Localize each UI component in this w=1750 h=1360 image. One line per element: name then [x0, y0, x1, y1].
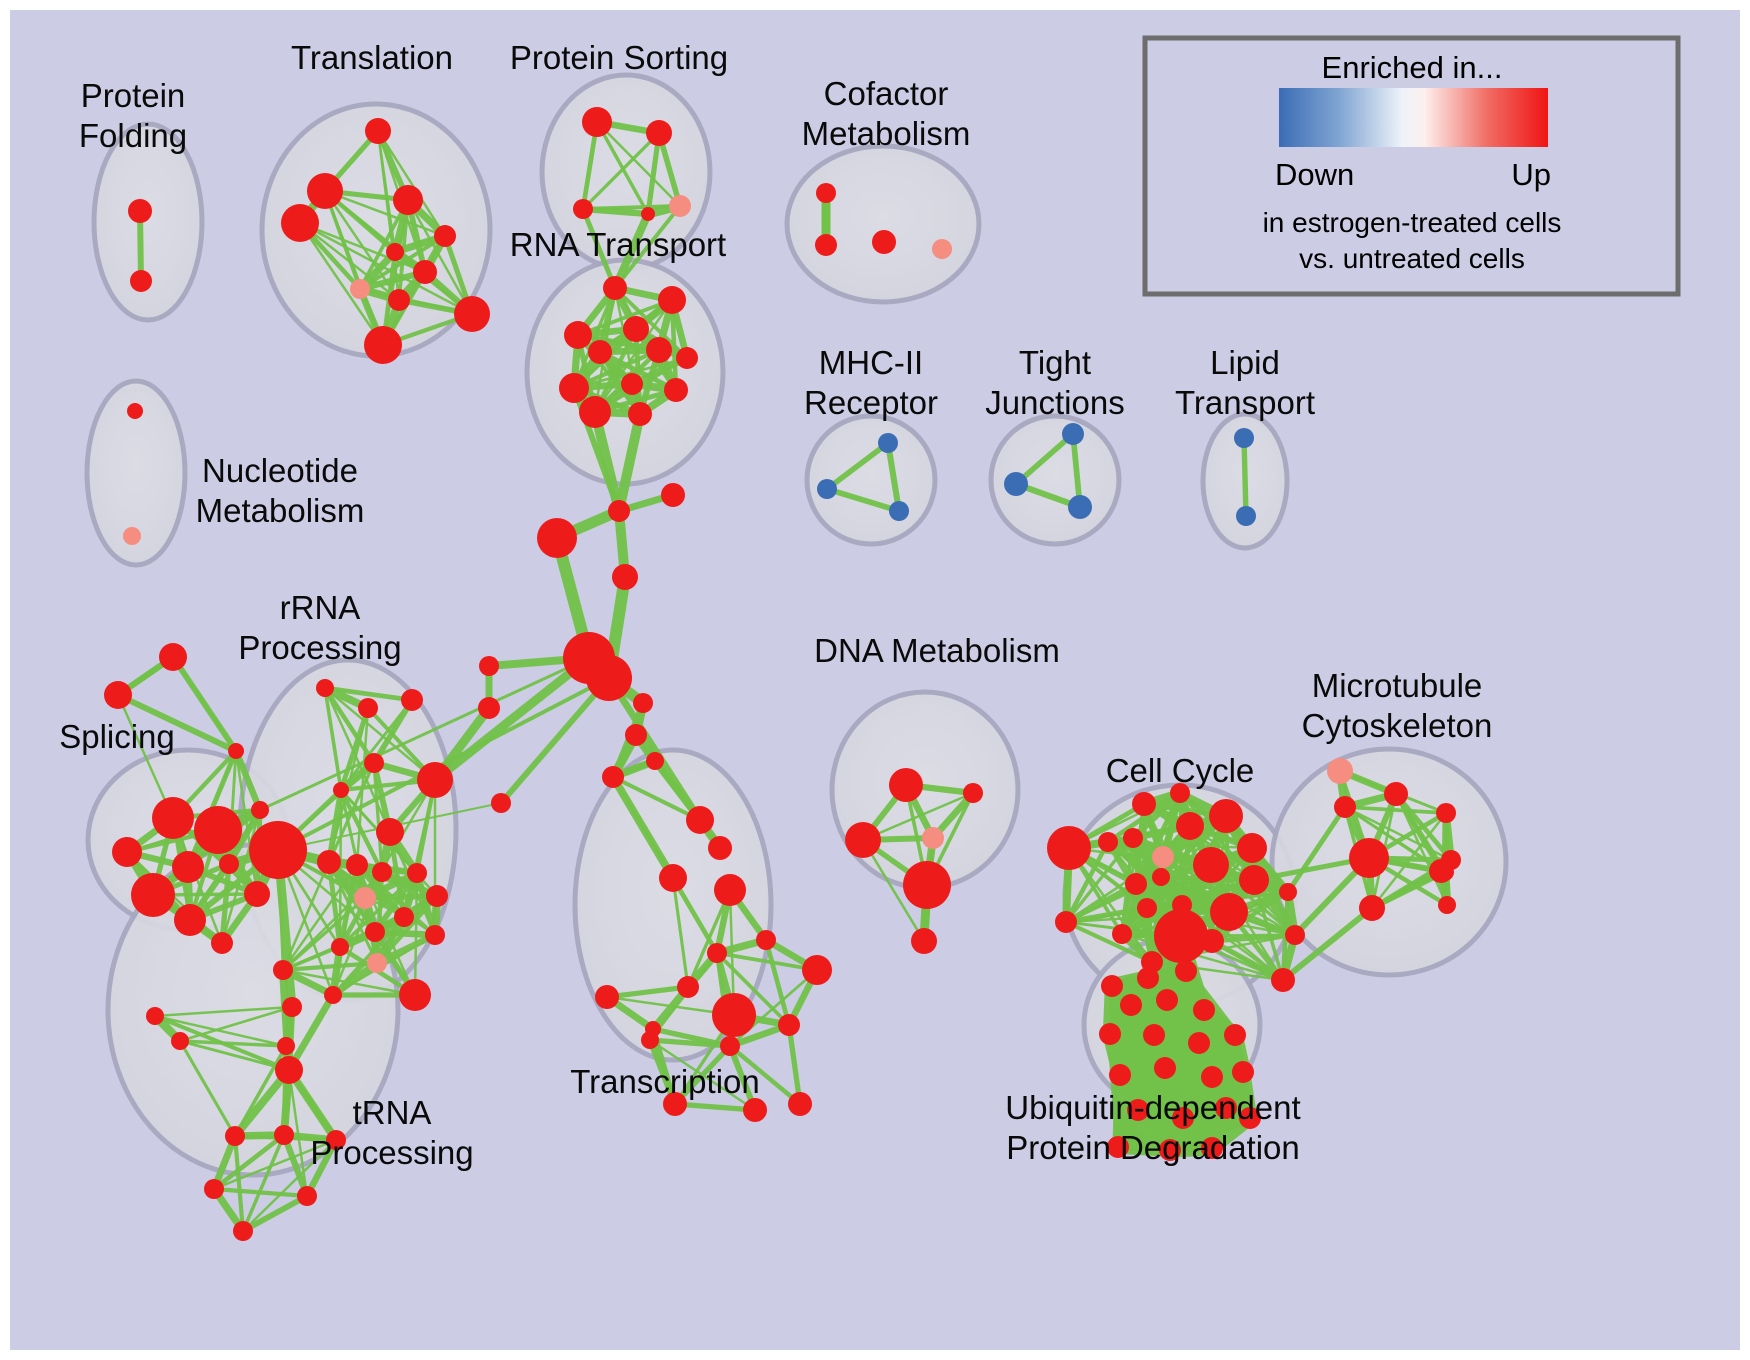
network-node: [676, 347, 698, 369]
network-node: [152, 797, 194, 839]
network-node: [1123, 828, 1143, 848]
network-node: [1125, 873, 1147, 895]
network-node: [123, 527, 141, 545]
network-node: [645, 1021, 661, 1037]
network-node: [491, 793, 511, 813]
network-node: [159, 643, 187, 671]
network-node: [1004, 472, 1028, 496]
cluster-label-dna-metabolism: DNA Metabolism: [814, 632, 1060, 669]
network-node: [317, 850, 341, 874]
network-node: [603, 276, 627, 300]
network-node: [756, 930, 776, 950]
network-node: [559, 373, 589, 403]
network-node: [1327, 758, 1353, 784]
network-node: [1137, 967, 1159, 989]
network-node: [401, 689, 423, 711]
network-canvas: ProteinFoldingTranslationProtein Sorting…: [0, 0, 1750, 1360]
network-node: [1200, 929, 1224, 953]
network-node: [1112, 924, 1132, 944]
network-node: [281, 204, 319, 242]
legend-up-label: Up: [1511, 157, 1551, 192]
cluster-label-transcription: Transcription: [570, 1063, 760, 1100]
network-node: [707, 943, 727, 963]
network-node: [393, 185, 423, 215]
network-node: [365, 118, 391, 144]
network-node: [225, 1126, 245, 1146]
network-node: [1359, 895, 1385, 921]
network-node: [1234, 428, 1254, 448]
network-node: [1154, 909, 1208, 963]
network-node: [1193, 847, 1229, 883]
network-node: [661, 483, 685, 507]
network-node: [478, 697, 500, 719]
network-node: [1156, 989, 1178, 1011]
network-node: [1201, 1066, 1223, 1088]
network-node: [720, 1036, 740, 1056]
network-node: [686, 806, 714, 834]
network-node: [1137, 898, 1157, 918]
network-node: [324, 986, 342, 1004]
network-node: [714, 874, 746, 906]
network-node: [386, 243, 404, 261]
network-node: [364, 753, 384, 773]
network-node: [708, 836, 732, 860]
network-node: [1176, 812, 1204, 840]
network-node: [399, 979, 431, 1011]
network-node: [394, 907, 414, 927]
legend-subtitle-line1: in estrogen-treated cells: [1263, 207, 1562, 238]
network-node: [646, 120, 672, 146]
network-node: [1224, 1024, 1246, 1046]
network-node: [1334, 796, 1356, 818]
network-node: [211, 932, 233, 954]
cluster-label-rna-transport: RNA Transport: [510, 226, 726, 263]
network-node: [586, 655, 632, 701]
cluster-label-translation: Translation: [291, 39, 453, 76]
legend-down-label: Down: [1275, 157, 1354, 192]
network-node: [104, 681, 132, 709]
network-node: [1429, 859, 1453, 883]
network-node: [244, 881, 270, 907]
network-node: [388, 289, 410, 311]
network-node: [564, 321, 592, 349]
network-node: [316, 679, 334, 697]
network-node: [1154, 1057, 1176, 1079]
network-node: [1099, 1023, 1121, 1045]
network-node: [582, 107, 612, 137]
network-node: [778, 1014, 800, 1036]
network-node: [426, 885, 448, 907]
network-node: [1239, 865, 1269, 895]
network-node: [282, 997, 302, 1017]
network-node: [346, 854, 368, 876]
network-node: [903, 861, 951, 909]
network-node: [1152, 868, 1170, 886]
network-node: [646, 337, 672, 363]
network-node: [174, 904, 206, 936]
cluster-label-splicing: Splicing: [59, 718, 175, 755]
network-node: [963, 783, 983, 803]
network-node: [413, 260, 437, 284]
network-node: [171, 1032, 189, 1050]
network-node: [1120, 994, 1142, 1016]
network-edge: [1244, 438, 1246, 516]
network-node: [1152, 846, 1174, 868]
network-node: [817, 479, 837, 499]
network-node: [932, 239, 952, 259]
network-node: [911, 928, 937, 954]
network-node: [364, 326, 402, 364]
network-node: [588, 340, 612, 364]
network-node: [233, 1221, 253, 1241]
cluster-label-cell-cycle: Cell Cycle: [1106, 752, 1255, 789]
network-node: [612, 564, 638, 590]
network-node: [788, 1092, 812, 1116]
network-node: [658, 286, 686, 314]
network-node: [307, 173, 343, 209]
network-node: [889, 768, 923, 802]
network-node: [273, 960, 293, 980]
network-node: [816, 183, 836, 203]
network-node: [127, 403, 143, 419]
network-node: [1237, 833, 1267, 863]
network-node: [621, 373, 643, 395]
network-node: [664, 378, 688, 402]
network-node: [845, 822, 881, 858]
network-node: [1143, 1024, 1165, 1046]
network-node: [249, 821, 307, 879]
network-node: [367, 953, 387, 973]
network-node: [1438, 896, 1456, 914]
network-node: [1055, 911, 1077, 933]
network-node: [646, 752, 664, 770]
network-node: [228, 743, 244, 759]
network-node: [479, 656, 499, 676]
network-node: [889, 501, 909, 521]
network-node: [712, 993, 756, 1037]
network-node: [131, 873, 175, 917]
network-node: [130, 270, 152, 292]
network-node: [434, 225, 456, 247]
network-node: [1209, 799, 1243, 833]
network-node: [608, 500, 630, 522]
network-node: [573, 199, 593, 219]
cluster-hull-cofactor-metabolism: [787, 146, 979, 302]
network-node: [274, 1125, 294, 1145]
network-node: [659, 864, 687, 892]
network-node: [633, 693, 653, 713]
network-node: [628, 402, 652, 426]
network-node: [878, 433, 898, 453]
network-node: [623, 316, 649, 342]
network-node: [1101, 975, 1123, 997]
network-node: [669, 195, 691, 217]
network-node: [454, 296, 490, 332]
network-node: [1098, 832, 1118, 852]
network-node: [112, 837, 142, 867]
network-node: [1285, 925, 1305, 945]
network-node: [331, 938, 349, 956]
network-node: [1271, 968, 1295, 992]
network-node: [1132, 792, 1156, 816]
network-node: [815, 234, 837, 256]
network-node: [1436, 803, 1456, 823]
network-node: [1236, 506, 1256, 526]
network-node: [537, 518, 577, 558]
network-node: [802, 955, 832, 985]
legend-gradient-bar: [1279, 88, 1548, 147]
network-node: [204, 1179, 224, 1199]
network-node: [743, 1098, 767, 1122]
network-node: [1210, 893, 1248, 931]
network-node: [358, 698, 378, 718]
network-node: [1349, 838, 1389, 878]
network-node: [579, 396, 611, 428]
network-node: [354, 887, 376, 909]
legend-title: Enriched in...: [1322, 50, 1503, 85]
network-node: [602, 766, 624, 788]
network-node: [595, 985, 619, 1009]
network-node: [1384, 782, 1408, 806]
network-node: [146, 1007, 164, 1025]
network-node: [275, 1056, 303, 1084]
network-node: [128, 199, 152, 223]
network-node: [1279, 883, 1297, 901]
enrichment-network-figure: ProteinFoldingTranslationProtein Sorting…: [0, 0, 1750, 1360]
network-node: [1109, 1064, 1131, 1086]
network-node: [872, 230, 896, 254]
network-node: [372, 862, 392, 882]
network-node: [641, 207, 655, 221]
cluster-label-protein-sorting: Protein Sorting: [510, 39, 728, 76]
network-node: [172, 851, 204, 883]
network-node: [417, 762, 453, 798]
network-node: [251, 801, 269, 819]
network-node: [333, 782, 349, 798]
network-node: [277, 1037, 295, 1055]
network-node: [407, 863, 427, 883]
network-node: [1232, 1061, 1254, 1083]
network-node: [922, 827, 944, 849]
network-node: [1047, 826, 1091, 870]
network-node: [1188, 1032, 1210, 1054]
network-node: [625, 724, 647, 746]
network-node: [1193, 999, 1215, 1021]
network-node: [194, 806, 242, 854]
network-node: [1068, 495, 1092, 519]
network-node: [1175, 960, 1197, 982]
network-node: [1062, 423, 1084, 445]
network-node: [350, 279, 370, 299]
network-node: [365, 922, 385, 942]
network-node: [677, 976, 699, 998]
network-node: [425, 925, 445, 945]
network-node: [376, 818, 404, 846]
legend-subtitle-line2: vs. untreated cells: [1299, 243, 1525, 274]
network-node: [219, 854, 239, 874]
network-node: [297, 1186, 317, 1206]
